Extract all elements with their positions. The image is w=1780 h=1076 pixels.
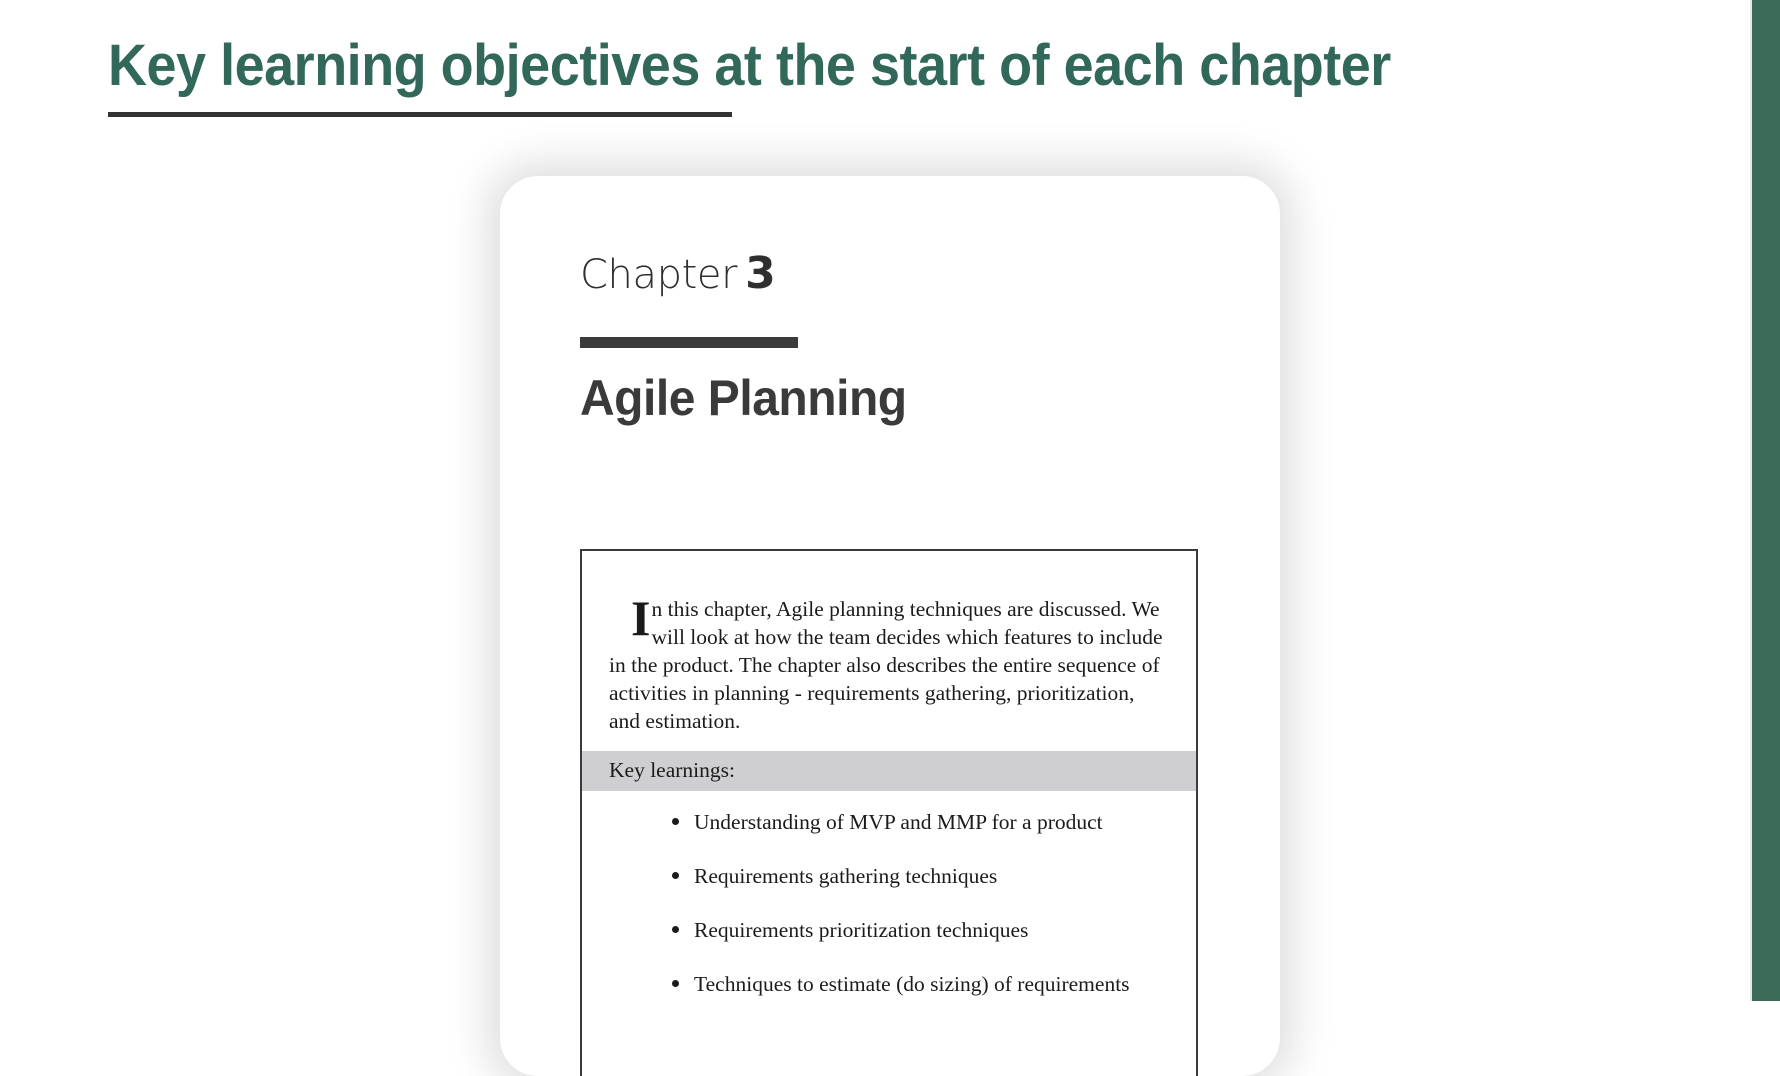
right-edge-accent-bar	[1750, 0, 1780, 1001]
chapter-label-group: Chapter3	[580, 248, 776, 299]
list-item: Requirements gathering techniques	[582, 863, 1196, 889]
bullet-icon	[672, 980, 679, 987]
list-item-label: Understanding of MVP and MMP for a produ…	[694, 810, 1103, 834]
page-title-underline	[108, 112, 732, 117]
page-title: Key learning objectives at the start of …	[108, 32, 1410, 99]
bullet-icon	[672, 926, 679, 933]
key-learnings-box: In this chapter, Agile planning techniqu…	[580, 549, 1198, 1076]
list-item-label: Requirements gathering techniques	[694, 864, 997, 888]
list-item: Requirements prioritization techniques	[582, 917, 1196, 943]
page-title-rest: at the start of each chapter	[700, 33, 1391, 98]
chapter-label: Chapter	[580, 252, 737, 298]
chapter-title: Agile Planning	[580, 369, 907, 427]
chapter-underline-bar	[580, 337, 798, 348]
key-learnings-heading: Key learnings:	[582, 751, 1196, 791]
bullet-icon	[672, 818, 679, 825]
chapter-number: 3	[745, 248, 776, 299]
book-page-card: Chapter3 Agile Planning In this chapter,…	[500, 176, 1280, 1076]
list-item: Understanding of MVP and MMP for a produ…	[582, 809, 1196, 835]
chapter-intro-text: n this chapter, Agile planning technique…	[609, 597, 1163, 733]
page-title-emphasis: Key learning objectives	[108, 33, 700, 98]
list-item-label: Requirements prioritization techniques	[694, 918, 1028, 942]
chapter-intro-paragraph: In this chapter, Agile planning techniqu…	[582, 551, 1196, 741]
bullet-icon	[672, 872, 679, 879]
drop-cap: I	[609, 595, 651, 639]
list-item: Techniques to estimate (do sizing) of re…	[582, 971, 1196, 997]
key-learnings-list: Understanding of MVP and MMP for a produ…	[582, 791, 1196, 997]
list-item-label: Techniques to estimate (do sizing) of re…	[694, 972, 1130, 996]
